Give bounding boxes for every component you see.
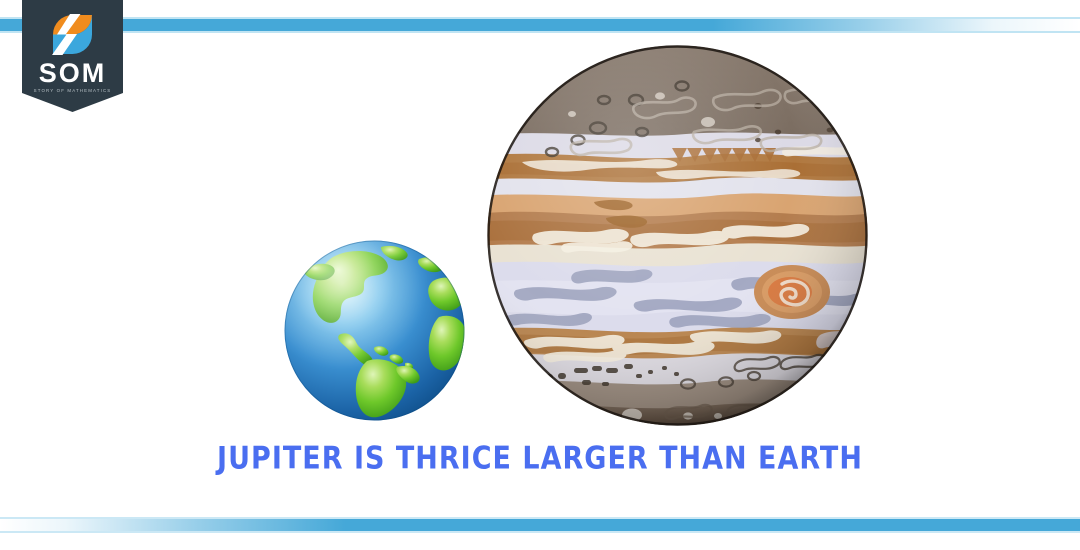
caption-text: JUPITER IS THRICE LARGER THAN EARTH [38,440,1042,476]
jupiter-illustration [486,44,869,427]
top-blue-ribbon [0,19,1080,31]
som-logo[interactable]: SOM STORY OF MATHEMATICS [22,0,123,112]
illustration-canvas: SOM STORY OF MATHEMATICS [0,0,1080,550]
logo-badge-shape [22,0,123,112]
earth-illustration [283,239,466,422]
bottom-blue-ribbon [0,519,1080,531]
